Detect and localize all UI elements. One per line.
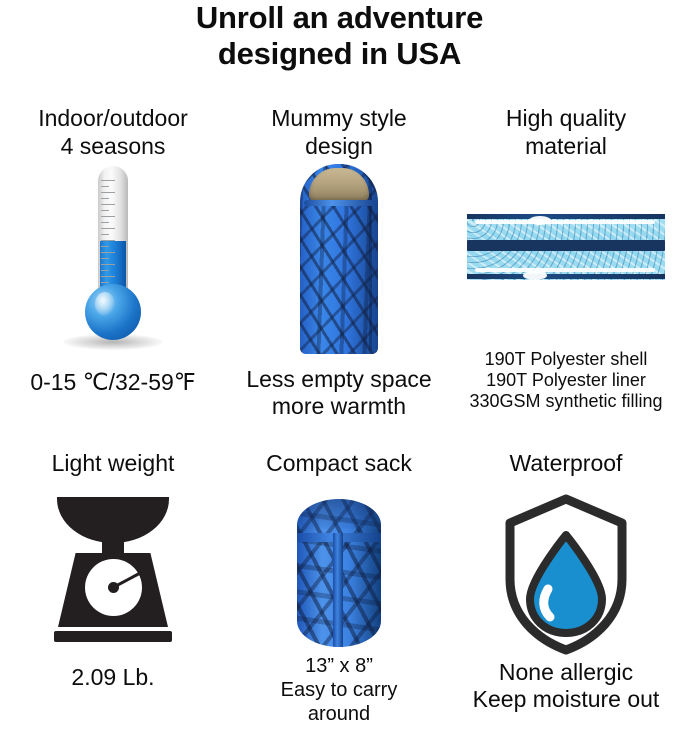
- stuff-sack-icon: [226, 497, 452, 662]
- feature-heading: Waterproof: [453, 449, 679, 477]
- feature-heading: Indoor/outdoor 4 seasons: [0, 104, 226, 160]
- thermometer-ticks: [101, 180, 117, 298]
- title-line-1: Unroll an adventure: [0, 0, 679, 36]
- sleeping-bag-zipper: [369, 194, 372, 350]
- scale-bowl: [57, 497, 169, 543]
- sleeping-bag-icon: [226, 164, 452, 364]
- feature-compact-sack: Compact sack 13” x 8” Easy to carry arou…: [226, 449, 452, 738]
- feature-heading: Mummy style design: [226, 104, 452, 160]
- scale-base: [54, 631, 172, 642]
- sleeping-bag-hood-rim: [304, 200, 374, 206]
- feature-heading: Compact sack: [226, 449, 452, 477]
- feature-caption: 0-15 ℃/32-59℉: [0, 369, 226, 396]
- feature-caption: 2.09 Lb.: [0, 664, 226, 691]
- feature-caption: None allergic Keep moisture out: [453, 659, 679, 713]
- infographic-page: Unroll an adventure designed in USA Indo…: [0, 0, 679, 738]
- fabric-bubble: [523, 271, 547, 280]
- kitchen-scale-icon: [0, 497, 226, 657]
- sack-cinch-top: [297, 499, 381, 529]
- title-line-2: designed in USA: [0, 36, 679, 72]
- fabric-layers-icon: [453, 192, 679, 312]
- scale-neck: [102, 541, 124, 555]
- scale-needle-hub: [108, 582, 119, 593]
- feature-heading: High quality material: [453, 104, 679, 160]
- fabric-core-layer: [467, 240, 665, 251]
- page-title: Unroll an adventure designed in USA: [0, 0, 679, 72]
- water-droplet: [530, 535, 602, 633]
- feature-caption: 190T Polyester shell 190T Polyester line…: [453, 349, 679, 412]
- shield-svg: [502, 493, 630, 655]
- fabric-highlight-top: [475, 220, 655, 224]
- thermometer-icon: [0, 166, 226, 356]
- feature-light-weight: Light weight 2.09 Lb.: [0, 449, 226, 738]
- feature-caption: 13” x 8” Easy to carry around: [226, 654, 452, 726]
- fabric-highlight-bottom: [475, 268, 655, 272]
- thermometer-bulb-highlight: [95, 292, 115, 316]
- feature-heading: Light weight: [0, 449, 226, 477]
- fabric-bubble: [529, 216, 551, 225]
- feature-caption: Less empty space more warmth: [226, 366, 452, 420]
- feature-high-quality-material: High quality material 190T Polyester she…: [453, 104, 679, 421]
- feature-indoor-outdoor: Indoor/outdoor 4 seasons: [0, 104, 226, 421]
- sack-strap-vertical: [333, 533, 343, 647]
- thermometer-bulb: [85, 284, 141, 340]
- feature-mummy-style: Mummy style design Less empty space more…: [226, 104, 452, 421]
- fabric-edge-bottom: [467, 274, 665, 279]
- feature-grid: Indoor/outdoor 4 seasons: [0, 104, 679, 738]
- feature-waterproof: Waterproof None allergic Keep moisture o…: [453, 449, 679, 738]
- fabric-edge-top: [467, 214, 665, 219]
- shield-water-drop-icon: [453, 493, 679, 663]
